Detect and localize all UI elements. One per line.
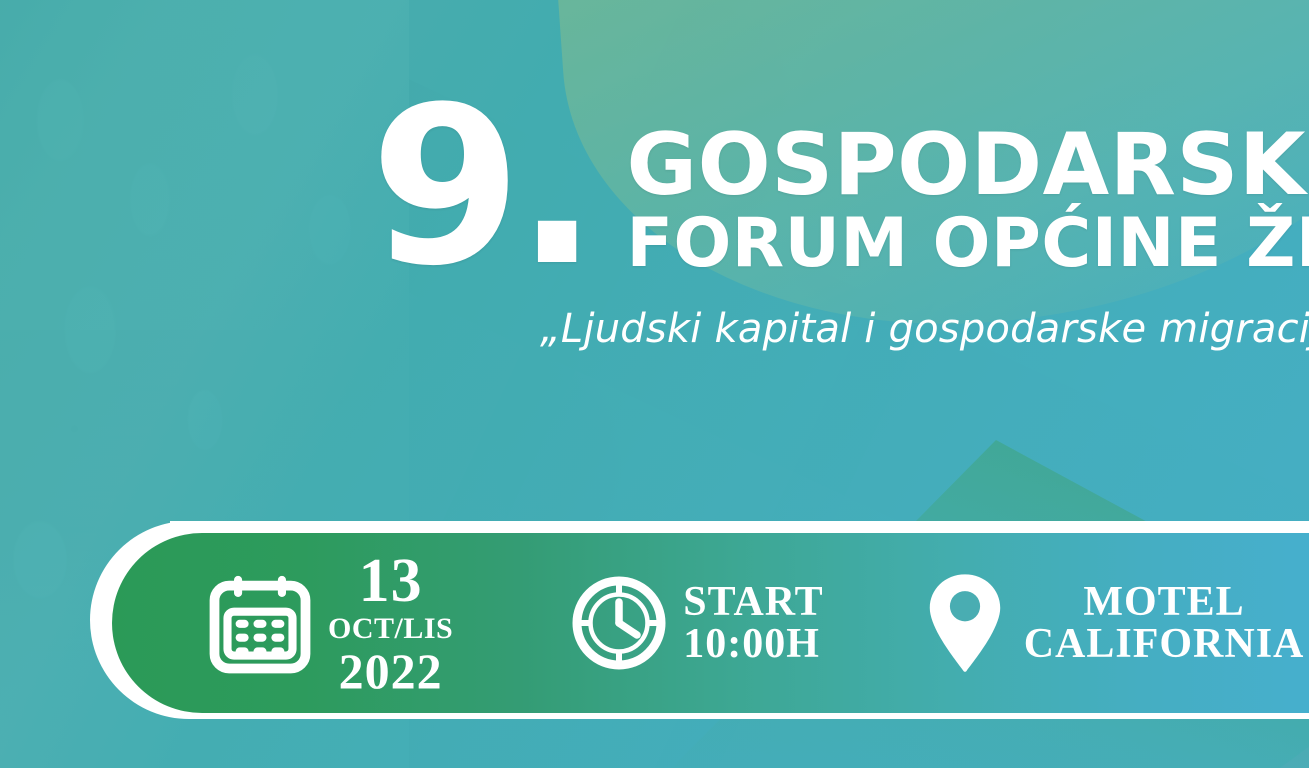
page-title: GOSPODARSKI	[627, 124, 1309, 207]
calendar-icon	[208, 571, 312, 675]
clock-icon	[571, 575, 667, 671]
date-year: 2022	[328, 646, 453, 696]
place-line-1: MOTEL	[1024, 581, 1305, 623]
info-item-date: 13 OCT/LIS 2022	[208, 550, 453, 696]
map-pin-icon	[922, 571, 1008, 675]
place-line-2: CALIFORNIA	[1024, 623, 1305, 665]
title-stack: GOSPODARSKI FORUM OPĆINE ŽEPČE	[627, 96, 1309, 278]
headline-block: 9. GOSPODARSKI FORUM OPĆINE ŽEPČE	[370, 96, 1270, 289]
edition-number: 9.	[370, 88, 593, 289]
time-text: START 10:00H	[683, 581, 823, 665]
info-item-place: MOTEL CALIFORNIA	[922, 571, 1305, 675]
time-label: START	[683, 581, 823, 623]
info-bar: 13 OCT/LIS 2022 START	[112, 533, 1309, 713]
date-month: OCT/LIS	[328, 614, 453, 644]
date-day: 13	[328, 550, 453, 612]
place-text: MOTEL CALIFORNIA	[1024, 581, 1305, 665]
time-value: 10:00H	[683, 623, 823, 665]
event-poster: 9. GOSPODARSKI FORUM OPĆINE ŽEPČE „Ljuds…	[0, 0, 1309, 768]
page-subtitle: FORUM OPĆINE ŽEPČE	[627, 209, 1309, 278]
date-text: 13 OCT/LIS 2022	[328, 550, 453, 696]
event-slogan: „Ljudski kapital i gospodarske migracije…	[540, 306, 1309, 352]
info-item-time: START 10:00H	[571, 575, 823, 671]
